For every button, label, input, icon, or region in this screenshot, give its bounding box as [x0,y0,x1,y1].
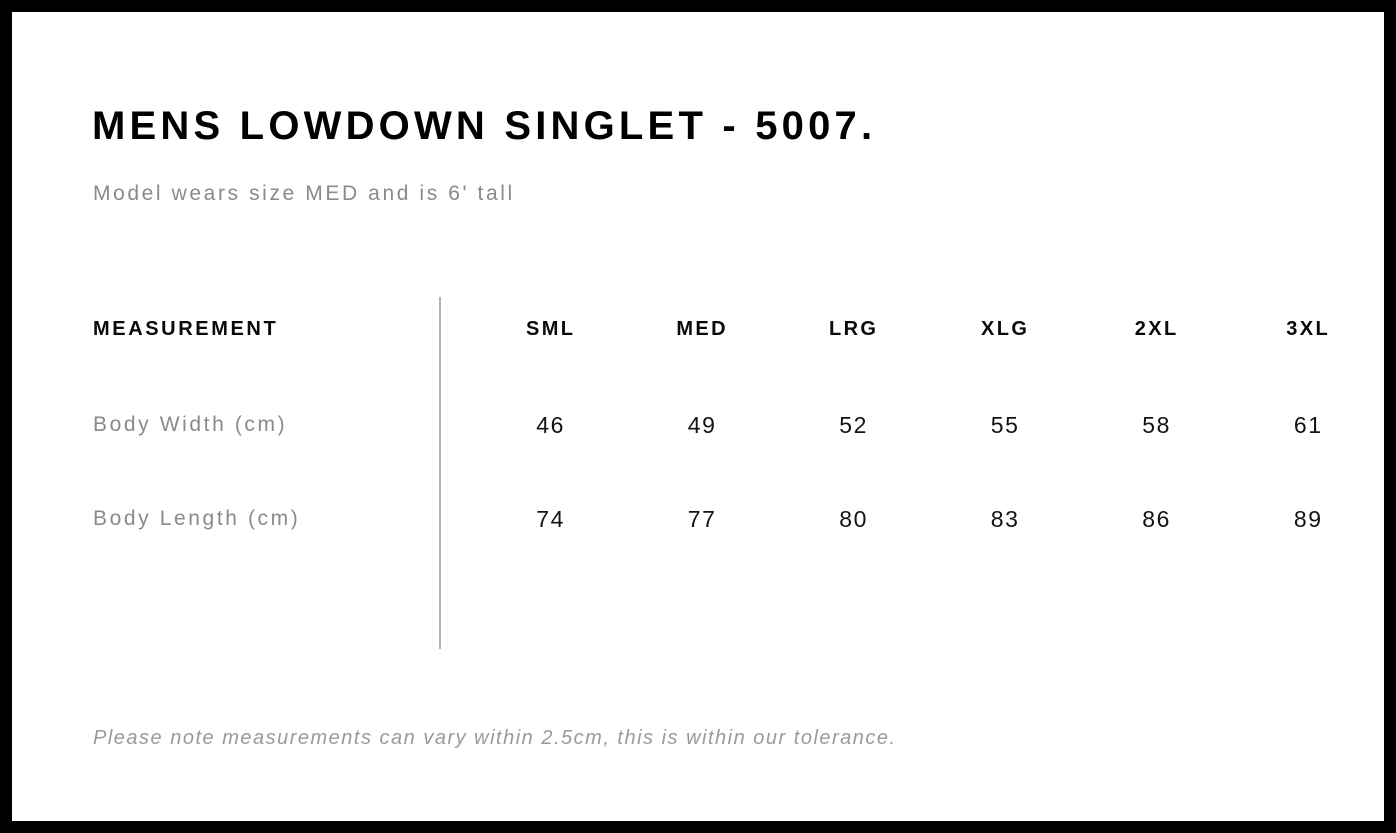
table-row: Body Width (cm) 46 49 52 55 58 61 [12,378,1384,472]
column-header-lrg: LRG [778,280,930,378]
tolerance-footnote: Please note measurements can vary within… [93,727,897,750]
size-chart-table: MEASUREMENT SML MED LRG XLG 2XL 3XL Body… [12,280,1384,566]
row-label-body-length: Body Length (cm) [12,472,475,566]
cell-body-width-sml: 46 [475,378,627,472]
cell-body-width-2xl: 58 [1081,378,1233,472]
cell-body-length-3xl: 89 [1232,472,1384,566]
cell-body-length-sml: 74 [475,472,627,566]
column-header-2xl: 2XL [1081,280,1233,378]
page-title: MENS LOWDOWN SINGLET - 5007. [92,104,876,149]
table-header-row: MEASUREMENT SML MED LRG XLG 2XL 3XL [12,280,1384,378]
model-info-subtitle: Model wears size MED and is 6' tall [93,182,515,206]
column-header-3xl: 3XL [1232,280,1384,378]
cell-body-length-2xl: 86 [1081,472,1233,566]
cell-body-width-xlg: 55 [929,378,1081,472]
column-header-xlg: XLG [929,280,1081,378]
table-row: Body Length (cm) 74 77 80 83 86 89 [12,472,1384,566]
column-header-sml: SML [475,280,627,378]
cell-body-width-med: 49 [626,378,778,472]
column-header-med: MED [626,280,778,378]
cell-body-length-xlg: 83 [929,472,1081,566]
cell-body-width-lrg: 52 [778,378,930,472]
cell-body-length-lrg: 80 [778,472,930,566]
cell-body-length-med: 77 [626,472,778,566]
row-label-body-width: Body Width (cm) [12,378,475,472]
cell-body-width-3xl: 61 [1232,378,1384,472]
size-chart-card: MENS LOWDOWN SINGLET - 5007. Model wears… [12,12,1384,821]
column-header-measurement: MEASUREMENT [12,280,475,378]
